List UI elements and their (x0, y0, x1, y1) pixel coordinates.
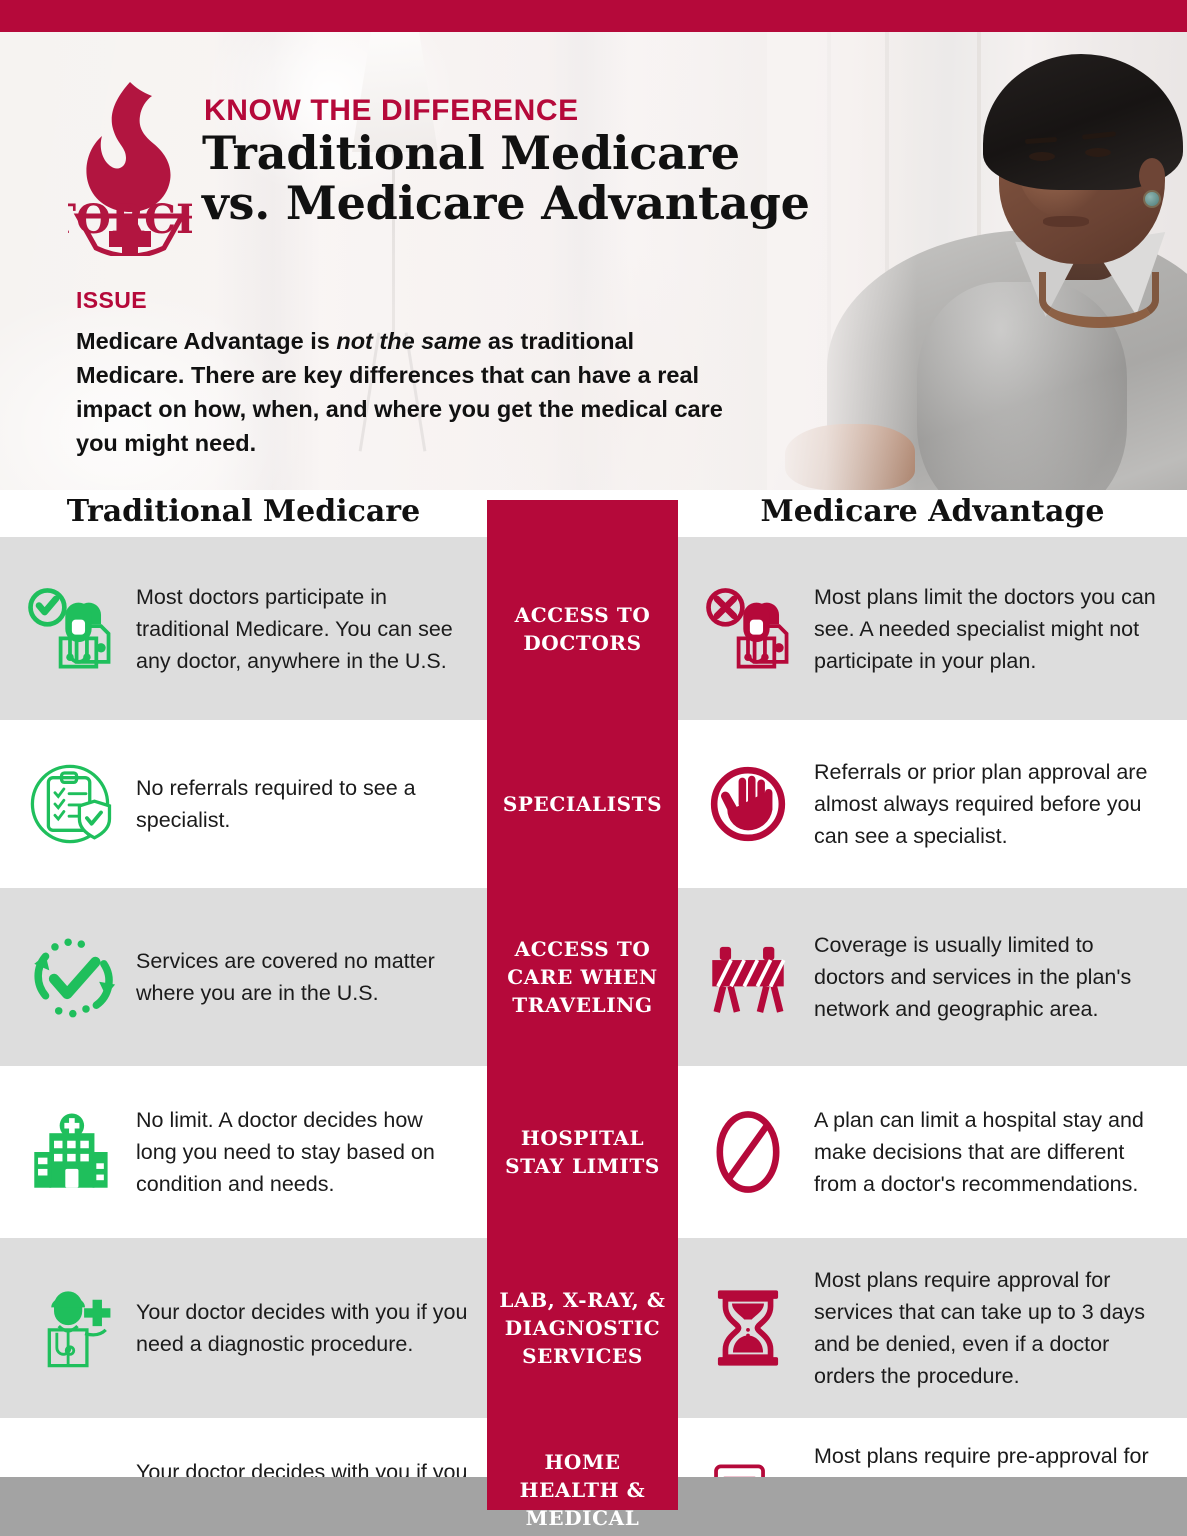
column-header-advantage: Medicare Advantage (678, 494, 1187, 529)
advantage-cell: Referrals or prior plan approval are alm… (678, 720, 1187, 888)
traditional-cell-text: No referrals required to see a specialis… (136, 772, 469, 836)
issue-label: ISSUE (76, 287, 147, 314)
clipboard-checklist-shield-icon (18, 757, 122, 851)
issue-body: Medicare Advantage is not the same as tr… (76, 324, 736, 460)
topic-labels: ACCESS TO DOCTORSSPECIALISTSACCESS TO CA… (487, 537, 678, 1536)
road-barricade-icon (696, 930, 800, 1024)
traditional-cell: No referrals required to see a specialis… (0, 720, 487, 888)
hourglass-icon (696, 1281, 800, 1375)
torch-logo: TORCH (68, 78, 192, 256)
title-line-2: vs. Medicare Advantage (202, 178, 862, 228)
doctors-check-icon (18, 582, 122, 676)
traditional-cell: Services are covered no matter where you… (0, 888, 487, 1066)
eye-right (1085, 148, 1111, 157)
traditional-cell-text: Most doctors participate in traditional … (136, 581, 469, 677)
photo-left-fade (767, 32, 917, 490)
hospital-building-icon (18, 1105, 122, 1199)
topic-label: HOME HEALTH & MEDICAL EQUIPMENT (487, 1418, 678, 1536)
issue-text-pre: Medicare Advantage is (76, 328, 336, 354)
doctor-with-cross-icon (18, 1281, 122, 1375)
traditional-cell-text: Services are covered no matter where you… (136, 945, 469, 1009)
doctors-x-icon (696, 582, 800, 676)
column-header-traditional: Traditional Medicare (0, 494, 487, 529)
eyebrow-text: KNOW THE DIFFERENCE (204, 94, 579, 128)
stop-hand-icon (696, 757, 800, 851)
traditional-cell-text: No limit. A doctor decides how long you … (136, 1104, 469, 1200)
advantage-cell-text: A plan can limit a hospital stay and mak… (814, 1104, 1169, 1200)
page-title: Traditional Medicare vs. Medicare Advant… (202, 128, 862, 228)
advantage-cell-text: Most plans limit the doctors you can see… (814, 581, 1169, 677)
topic-label: LAB, X-RAY, & DIAGNOSTIC SERVICES (487, 1238, 678, 1418)
ear (1139, 158, 1165, 194)
top-accent-bar (0, 0, 1187, 32)
topic-label: SPECIALISTS (487, 720, 678, 888)
topic-label: HOSPITAL STAY LIMITS (487, 1066, 678, 1238)
woman-photo (767, 32, 1187, 490)
topic-label: ACCESS TO DOCTORS (487, 537, 678, 720)
traditional-cell: No limit. A doctor decides how long you … (0, 1066, 487, 1238)
advantage-cell: A plan can limit a hospital stay and mak… (678, 1066, 1187, 1238)
topic-label: ACCESS TO CARE WHEN TRAVELING (487, 888, 678, 1066)
advantage-cell: Most plans require approval for services… (678, 1238, 1187, 1418)
prohibited-circle-icon (696, 1105, 800, 1199)
traditional-cell: Your doctor decides with you if you need… (0, 1238, 487, 1418)
eye-left (1029, 152, 1055, 161)
comparison-table: Traditional Medicare Medicare Advantage … (0, 490, 1187, 1490)
advantage-cell-text: Most plans require approval for services… (814, 1264, 1169, 1392)
necklace (1039, 272, 1159, 328)
advantage-cell: Coverage is usually limited to doctors a… (678, 888, 1187, 1066)
traditional-cell: Most doctors participate in traditional … (0, 537, 487, 720)
issue-text-emphasis: not the same (336, 328, 481, 354)
advantage-cell: Most plans limit the doctors you can see… (678, 537, 1187, 720)
earring (1143, 190, 1161, 208)
advantage-cell-text: Coverage is usually limited to doctors a… (814, 929, 1169, 1025)
title-line-1: Traditional Medicare (202, 128, 862, 178)
lips (1043, 216, 1089, 227)
traditional-cell-text: Your doctor decides with you if you need… (136, 1296, 469, 1360)
advantage-cell-text: Referrals or prior plan approval are alm… (814, 756, 1169, 852)
infographic-page: TORCH KNOW THE DIFFERENCE Traditional Me… (0, 0, 1187, 1536)
hero-section: TORCH KNOW THE DIFFERENCE Traditional Me… (0, 32, 1187, 490)
circular-arrows-check-icon (18, 930, 122, 1024)
